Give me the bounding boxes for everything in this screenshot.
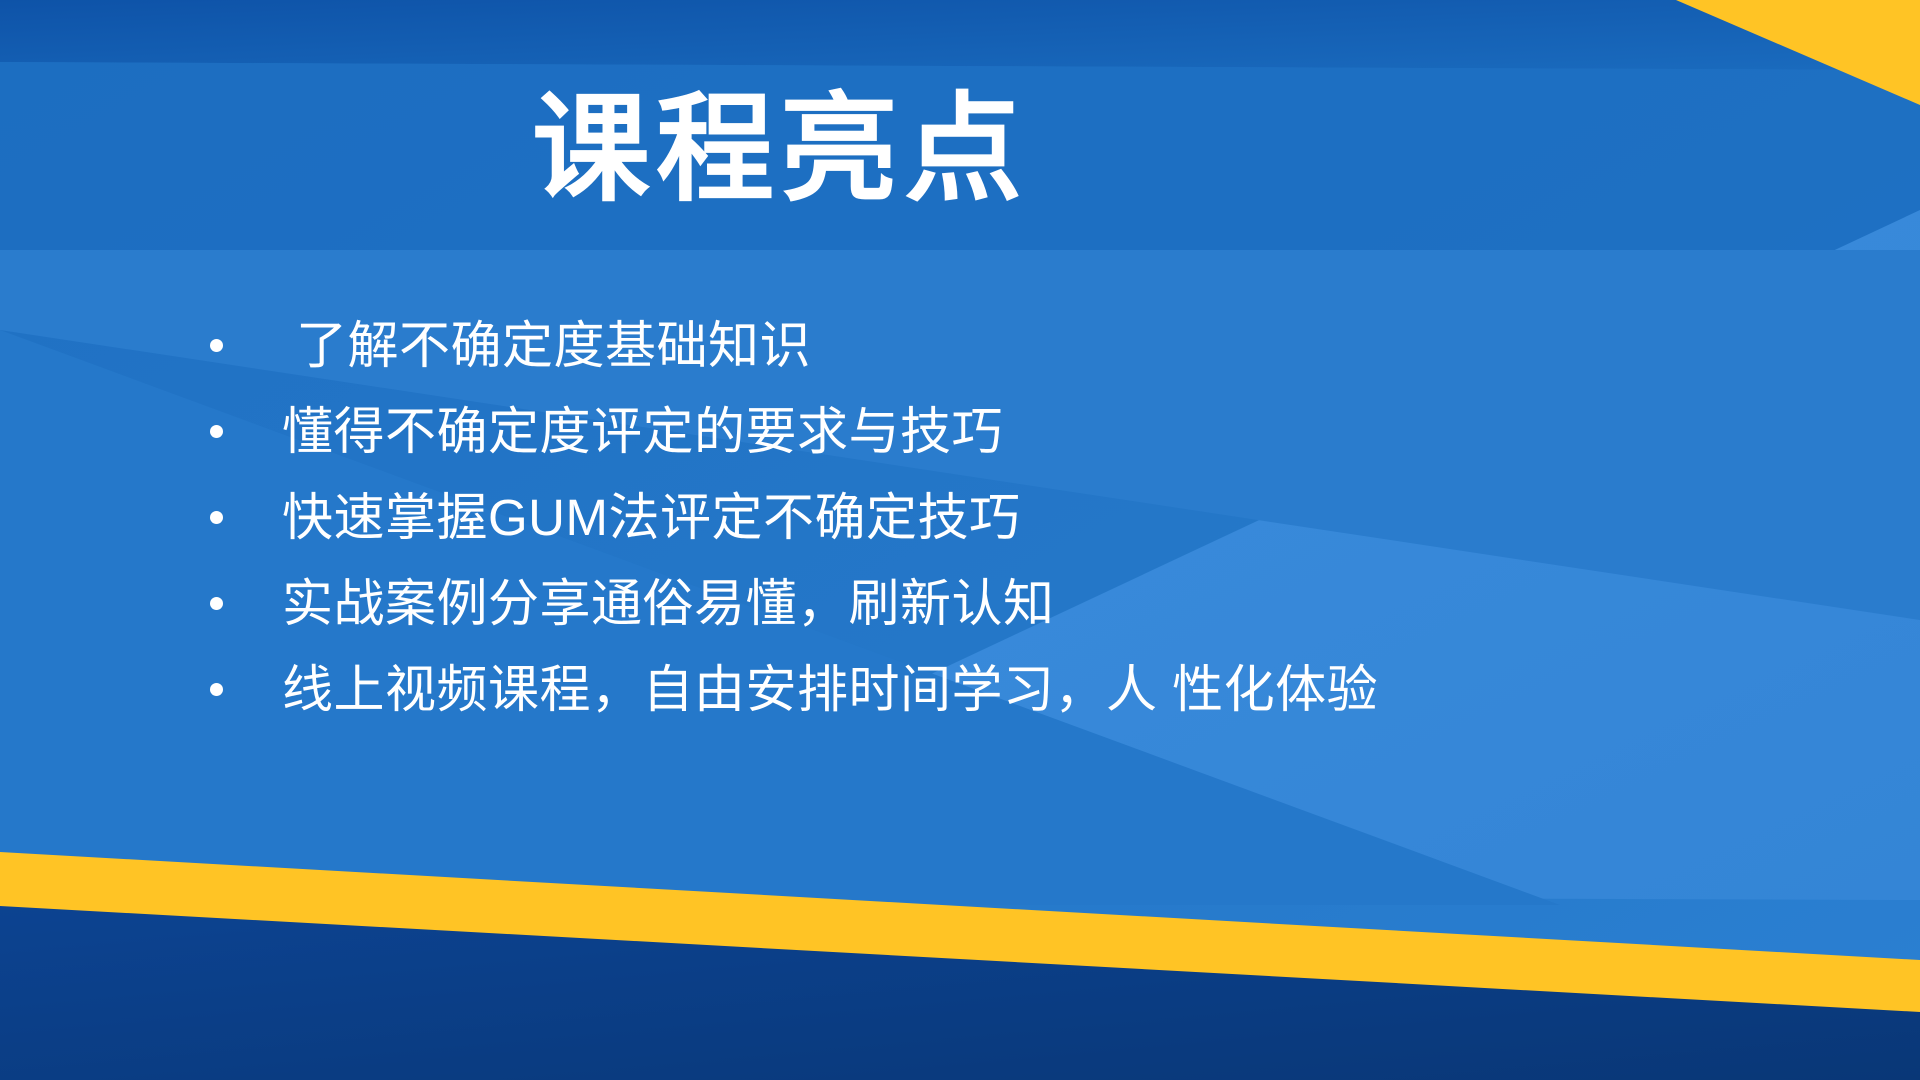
slide-canvas: 课程亮点 了解不确定度基础知识 懂得不确定度评定的要求与技巧 快速掌握GUM法评… bbox=[0, 0, 1920, 1080]
list-item: 了解不确定度基础知识 bbox=[210, 320, 1770, 406]
list-item-label: 实战案例分享通俗易懂，刷新认知 bbox=[282, 578, 1055, 629]
list-item-label: 线上视频课程，自由安排时间学习，人 性化体验 bbox=[282, 664, 1378, 715]
list-item-label: 了解不确定度基础知识 bbox=[282, 320, 811, 371]
list-item-label: 快速掌握GUM法评定不确定技巧 bbox=[282, 492, 1021, 543]
bullet-dot-icon bbox=[210, 665, 282, 709]
bullet-dot-icon bbox=[210, 493, 282, 537]
page-title: 课程亮点 bbox=[0, 88, 1560, 213]
bullet-dot-icon bbox=[210, 579, 282, 623]
list-item: 实战案例分享通俗易懂，刷新认知 bbox=[210, 578, 1770, 664]
list-item: 快速掌握GUM法评定不确定技巧 bbox=[210, 492, 1770, 578]
list-item: 懂得不确定度评定的要求与技巧 bbox=[210, 406, 1770, 492]
list-item-label: 懂得不确定度评定的要求与技巧 bbox=[282, 406, 1003, 457]
list-item: 线上视频课程，自由安排时间学习，人 性化体验 bbox=[210, 664, 1770, 750]
bullet-dot-icon bbox=[210, 407, 282, 451]
highlights-list: 了解不确定度基础知识 懂得不确定度评定的要求与技巧 快速掌握GUM法评定不确定技… bbox=[210, 320, 1770, 750]
bullet-dot-icon bbox=[210, 321, 282, 365]
slide-content: 课程亮点 了解不确定度基础知识 懂得不确定度评定的要求与技巧 快速掌握GUM法评… bbox=[0, 0, 1920, 1080]
